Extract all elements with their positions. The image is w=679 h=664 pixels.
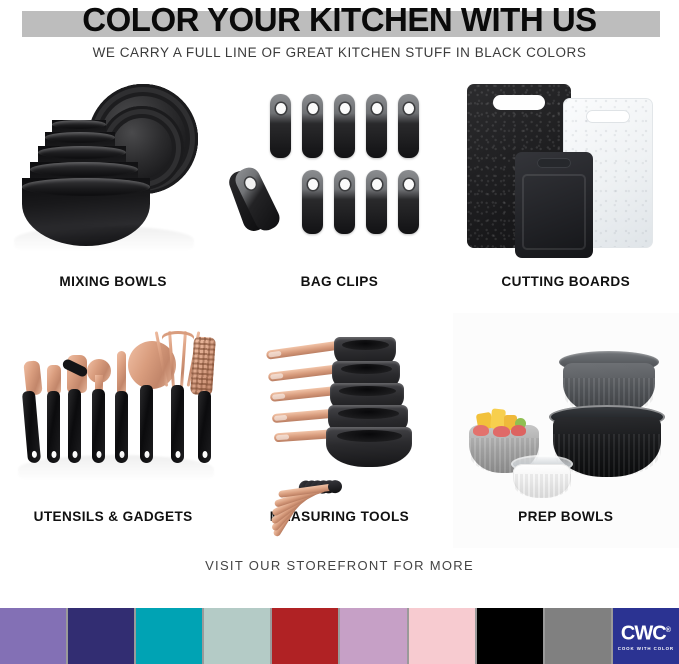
brand-logo[interactable]: CWC® COOK WITH COLOR bbox=[613, 608, 679, 664]
color-swatch-red[interactable] bbox=[272, 608, 338, 664]
product-cell-cutting-boards[interactable]: CUTTING BOARDS bbox=[453, 78, 679, 313]
fruit-grapefruit bbox=[473, 425, 489, 436]
bag-clip bbox=[398, 94, 419, 158]
utensil-handle bbox=[68, 389, 81, 463]
color-swatch-indigo[interactable] bbox=[68, 608, 134, 664]
measuring-tools-image bbox=[226, 313, 452, 509]
color-swatch-gray[interactable] bbox=[545, 608, 611, 664]
logo-text: CWC bbox=[621, 623, 666, 645]
storefront-link[interactable]: VISIT OUR STOREFRONT FOR MORE bbox=[0, 558, 679, 573]
utensil-handle bbox=[47, 391, 60, 463]
product-cell-utensils[interactable]: UTENSILS & GADGETS bbox=[0, 313, 226, 548]
bag-clip bbox=[334, 170, 355, 234]
logo-wordmark: CWC® bbox=[621, 621, 671, 644]
fruit-grapefruit bbox=[493, 426, 510, 437]
bag-clip bbox=[270, 94, 291, 158]
mixing-bowls-image bbox=[0, 78, 226, 274]
product-label-cutting-boards: CUTTING BOARDS bbox=[501, 274, 630, 290]
bag-clip bbox=[366, 94, 387, 158]
product-label-bag-clips: BAG CLIPS bbox=[301, 274, 379, 290]
bag-clip bbox=[302, 94, 323, 158]
measuring-cup bbox=[326, 427, 412, 467]
logo-tagline: COOK WITH COLOR bbox=[618, 646, 674, 651]
registered-mark-icon: ® bbox=[666, 627, 671, 634]
bag-clip bbox=[334, 94, 355, 158]
color-swatch-strip: CWC® COOK WITH COLOR bbox=[0, 608, 679, 664]
product-label-mixing-bowls: MIXING BOWLS bbox=[59, 274, 167, 290]
utensil-handle bbox=[171, 385, 184, 463]
product-cell-prep-bowls[interactable]: PREP BOWLS bbox=[453, 313, 679, 548]
page-subtitle: WE CARRY A FULL LINE OF GREAT KITCHEN ST… bbox=[0, 44, 679, 62]
prep-bowl-white bbox=[513, 464, 571, 498]
product-row-2: UTENSILS & GADGETS bbox=[0, 313, 679, 548]
bag-clip bbox=[398, 170, 419, 234]
product-label-utensils: UTENSILS & GADGETS bbox=[34, 509, 193, 525]
color-swatch-purple[interactable] bbox=[0, 608, 66, 664]
bag-clip-angled bbox=[236, 166, 276, 240]
utensil-head-grater bbox=[190, 336, 216, 395]
page-title: COLOR YOUR KITCHEN WITH US bbox=[0, 0, 679, 40]
product-cell-mixing-bowls[interactable]: MIXING BOWLS bbox=[0, 78, 226, 313]
utensil-handle bbox=[140, 385, 153, 463]
product-cell-bag-clips[interactable]: BAG CLIPS bbox=[226, 78, 452, 313]
color-swatch-blush-pink[interactable] bbox=[409, 608, 475, 664]
cutting-board-small-dark bbox=[515, 152, 593, 258]
utensil-head-knife bbox=[117, 351, 126, 395]
utensil-handle bbox=[92, 389, 105, 463]
color-swatch-black[interactable] bbox=[477, 608, 543, 664]
bag-clips-image bbox=[226, 78, 452, 274]
product-row-1: MIXING BOWLS bbox=[0, 78, 679, 313]
cutting-boards-image bbox=[453, 78, 679, 274]
fruit-group bbox=[471, 409, 537, 435]
header: COLOR YOUR KITCHEN WITH US WE CARRY A FU… bbox=[0, 0, 679, 70]
color-swatch-orchid[interactable] bbox=[340, 608, 406, 664]
prep-bowls-image bbox=[453, 313, 679, 509]
bag-clip bbox=[302, 170, 323, 234]
promo-page: COLOR YOUR KITCHEN WITH US WE CARRY A FU… bbox=[0, 0, 679, 664]
fruit-grapefruit bbox=[511, 425, 526, 436]
utensil-handle bbox=[198, 391, 211, 463]
product-cell-measuring-tools[interactable]: MEASURING TOOLS bbox=[226, 313, 452, 548]
product-grid: MIXING BOWLS bbox=[0, 78, 679, 548]
utensils-gadgets-image bbox=[0, 313, 226, 509]
utensil-handle bbox=[115, 391, 128, 463]
bag-clip bbox=[366, 170, 387, 234]
product-label-prep-bowls: PREP BOWLS bbox=[518, 509, 613, 525]
color-swatch-sage[interactable] bbox=[204, 608, 270, 664]
color-swatch-teal[interactable] bbox=[136, 608, 202, 664]
utensil-handle bbox=[22, 391, 41, 464]
